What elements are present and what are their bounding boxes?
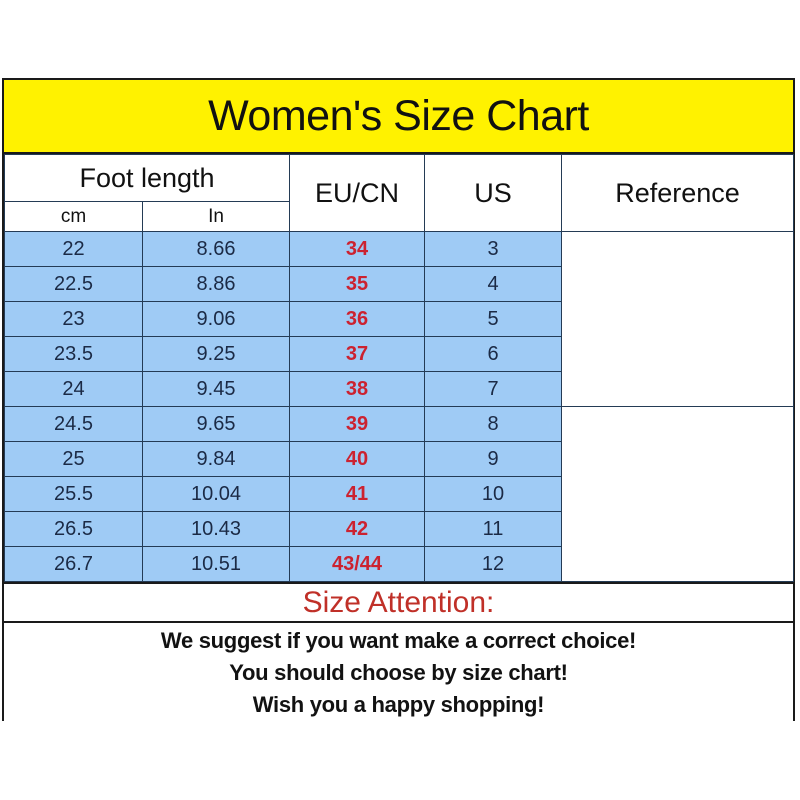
- cell-eu: 38: [290, 372, 425, 407]
- cell-us: 11: [425, 512, 562, 547]
- cell-cm: 25: [5, 442, 143, 477]
- cell-cm: 22.5: [5, 267, 143, 302]
- size-table: Foot length EU/CN US Reference cm In 22 …: [4, 154, 794, 582]
- cell-us: 5: [425, 302, 562, 337]
- cell-in: 10.04: [143, 477, 290, 512]
- cell-in: 8.66: [143, 232, 290, 267]
- page-title: Women's Size Chart: [208, 95, 589, 138]
- cell-us: 4: [425, 267, 562, 302]
- cell-eu: 39: [290, 407, 425, 442]
- header-eu-cn: EU/CN: [290, 155, 425, 232]
- cell-eu: 36: [290, 302, 425, 337]
- table-row: 22 8.66 34 3: [5, 232, 794, 267]
- cell-cm: 24.5: [5, 407, 143, 442]
- cell-eu: 34: [290, 232, 425, 267]
- chart-title-banner: Women's Size Chart: [4, 80, 793, 154]
- cell-in: 9.45: [143, 372, 290, 407]
- cell-eu: 35: [290, 267, 425, 302]
- table-header-row-1: Foot length EU/CN US Reference: [5, 155, 794, 202]
- cell-us: 6: [425, 337, 562, 372]
- cell-us: 8: [425, 407, 562, 442]
- cell-in: 9.25: [143, 337, 290, 372]
- size-chart-page: Women's Size Chart Foot length EU/CN US …: [0, 0, 800, 800]
- header-in: In: [143, 202, 290, 232]
- cell-in: 9.06: [143, 302, 290, 337]
- cell-cm: 25.5: [5, 477, 143, 512]
- cell-eu: 43/44: [290, 547, 425, 582]
- cell-cm: 26.5: [5, 512, 143, 547]
- cell-cm: 23.5: [5, 337, 143, 372]
- cell-cm: 22: [5, 232, 143, 267]
- cell-cm: 24: [5, 372, 143, 407]
- cell-in: 9.65: [143, 407, 290, 442]
- cell-in: 8.86: [143, 267, 290, 302]
- header-cm: cm: [5, 202, 143, 232]
- header-reference: Reference: [562, 155, 794, 232]
- size-attention-heading: Size Attention:: [303, 588, 495, 618]
- header-foot-length: Foot length: [5, 155, 290, 202]
- cell-eu: 40: [290, 442, 425, 477]
- note-line-2: You should choose by size chart!: [229, 661, 567, 685]
- cell-us: 7: [425, 372, 562, 407]
- cell-cm: 23: [5, 302, 143, 337]
- note-line-3: Wish you a happy shopping!: [253, 693, 544, 717]
- cell-in: 10.51: [143, 547, 290, 582]
- cell-in: 10.43: [143, 512, 290, 547]
- cell-us: 3: [425, 232, 562, 267]
- reference-cell-2: 45° (脚长) method:inner length of shoe=len…: [562, 407, 794, 582]
- header-us: US: [425, 155, 562, 232]
- cell-us: 12: [425, 547, 562, 582]
- size-attention-row: Size Attention:: [4, 582, 793, 623]
- size-chart-container: Women's Size Chart Foot length EU/CN US …: [2, 78, 795, 721]
- table-row: 24.5 9.65 39 8: [5, 407, 794, 442]
- cell-eu: 41: [290, 477, 425, 512]
- cell-eu: 42: [290, 512, 425, 547]
- cell-cm: 26.7: [5, 547, 143, 582]
- cell-us: 10: [425, 477, 562, 512]
- note-line-1: We suggest if you want make a correct ch…: [161, 629, 636, 653]
- cell-in: 9.84: [143, 442, 290, 477]
- cell-us: 9: [425, 442, 562, 477]
- reference-cell-1: (脚长) method:inner length of shoe=length …: [562, 232, 794, 407]
- attention-notes: We suggest if you want make a correct ch…: [4, 623, 793, 726]
- cell-eu: 37: [290, 337, 425, 372]
